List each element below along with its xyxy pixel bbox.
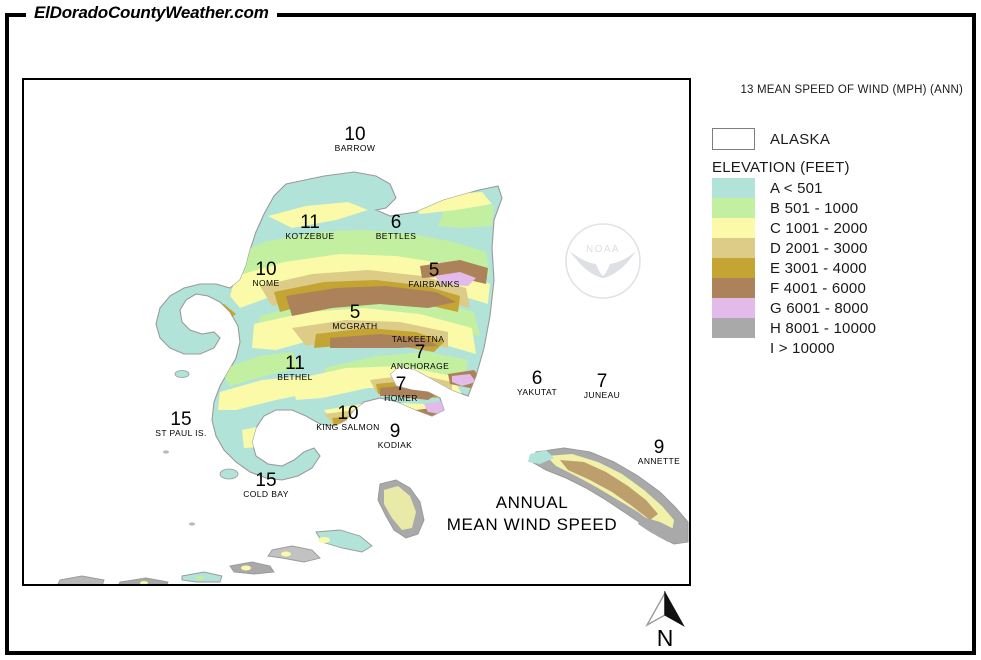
legend-class-label: I > 10000: [770, 340, 835, 357]
legend-class-row: C 1001 - 2000: [712, 218, 967, 238]
station-wind-speed-value: 7: [415, 342, 426, 363]
station-wind-speed-value: 10: [255, 259, 276, 280]
station-wind-speed-value: 9: [654, 437, 665, 458]
map-panel[interactable]: NOAA: [22, 78, 691, 586]
station-name-label: JUNEAU: [584, 390, 620, 400]
legend-class-swatch-c: [712, 218, 755, 238]
legend-class-label: G 6001 - 8000: [770, 300, 869, 317]
legend-class-swatch-i: [712, 338, 755, 358]
legend-class-label: C 1001 - 2000: [770, 220, 868, 237]
station-marker: 10NOME: [252, 259, 279, 288]
page-title: ElDoradoCountyWeather.com: [34, 0, 269, 26]
legend-class-row: H 8001 - 10000: [712, 318, 967, 338]
station-name-label: MCGRATH: [332, 321, 377, 331]
legend-class-list: A < 501B 501 - 1000C 1001 - 2000D 2001 -…: [712, 178, 967, 358]
station-wind-speed-value: 7: [597, 371, 608, 392]
station-name-label: HOMER: [384, 393, 418, 403]
station-wind-speed-value: 15: [255, 470, 276, 491]
legend-class-label: H 8001 - 10000: [770, 320, 876, 337]
station-name-label: KING SALMON: [316, 422, 379, 432]
legend-elevation-title: ELEVATION (FEET): [712, 159, 967, 176]
legend-class-row: A < 501: [712, 178, 967, 198]
station-name-label: ANCHORAGE: [391, 361, 449, 371]
legend-region-label: ALASKA: [770, 131, 830, 148]
station-wind-speed-value: 6: [532, 368, 543, 389]
legend-class-label: F 4001 - 6000: [770, 280, 866, 297]
caption-line-1: ANNUAL: [496, 493, 569, 512]
caption-line-2: MEAN WIND SPEED: [447, 515, 618, 534]
legend-class-swatch-b: [712, 198, 755, 218]
compass-north-letter: N: [637, 627, 693, 650]
station-wind-speed-value: 10: [337, 403, 358, 424]
legend-title: 13 MEAN SPEED OF WIND (MPH) (ANN): [712, 84, 967, 96]
station-wind-speed-value: 5: [350, 302, 361, 323]
page-root: { "page": { "title": "ElDoradoCountyWeat…: [0, 0, 981, 660]
legend-panel: 13 MEAN SPEED OF WIND (MPH) (ANN) ALASKA…: [712, 84, 967, 358]
station-wind-speed-value: 11: [300, 212, 320, 233]
svg-text:NOAA: NOAA: [586, 244, 620, 255]
legend-class-label: D 2001 - 3000: [770, 240, 868, 257]
station-wind-speed-value: 5: [429, 260, 440, 281]
station-wind-speed-value: 7: [396, 374, 407, 395]
legend-class-row: B 501 - 1000: [712, 198, 967, 218]
north-arrow: N: [637, 591, 693, 655]
legend-class-label: E 3001 - 4000: [770, 260, 867, 277]
station-name-label: BETTLES: [376, 231, 417, 241]
legend-class-row: G 6001 - 8000: [712, 298, 967, 318]
station-name-label: BETHEL: [277, 372, 312, 382]
legend-class-label: B 501 - 1000: [770, 200, 858, 217]
station-name-label: KOTZEBUE: [285, 231, 334, 241]
site-title-container: ElDoradoCountyWeather.com: [26, 0, 277, 26]
legend-region-row: ALASKA: [712, 128, 967, 150]
station-name-label: COLD BAY: [243, 489, 289, 499]
legend-region-swatch: [712, 128, 755, 150]
legend-class-label: A < 501: [770, 180, 823, 197]
station-name-label: ST PAUL IS.: [155, 428, 206, 438]
station-name-label: KODIAK: [378, 440, 413, 450]
legend-class-swatch-h: [712, 318, 755, 338]
legend-class-row: D 2001 - 3000: [712, 238, 967, 258]
station-name-label: NOME: [252, 278, 279, 288]
station-wind-speed-value: 11: [285, 353, 305, 374]
legend-class-row: I > 10000: [712, 338, 967, 358]
station-name-label: YAKUTAT: [517, 387, 557, 397]
station-name-label: BARROW: [335, 143, 376, 153]
legend-class-swatch-d: [712, 238, 755, 258]
station-name-label: FAIRBANKS: [408, 279, 459, 289]
legend-class-swatch-g: [712, 298, 755, 318]
station-wind-speed-value: 6: [391, 212, 402, 233]
legend-class-swatch-f: [712, 278, 755, 298]
legend-class-row: E 3001 - 4000: [712, 258, 967, 278]
station-wind-speed-value: 9: [390, 421, 401, 442]
legend-class-swatch-e: [712, 258, 755, 278]
station-wind-speed-value: 10: [344, 124, 365, 145]
legend-class-row: F 4001 - 6000: [712, 278, 967, 298]
station-name-label: ANNETTE: [638, 456, 680, 466]
legend-class-swatch-a: [712, 178, 755, 198]
alaska-elevation-map[interactable]: NOAA: [24, 80, 689, 584]
station-wind-speed-value: 15: [170, 409, 191, 430]
